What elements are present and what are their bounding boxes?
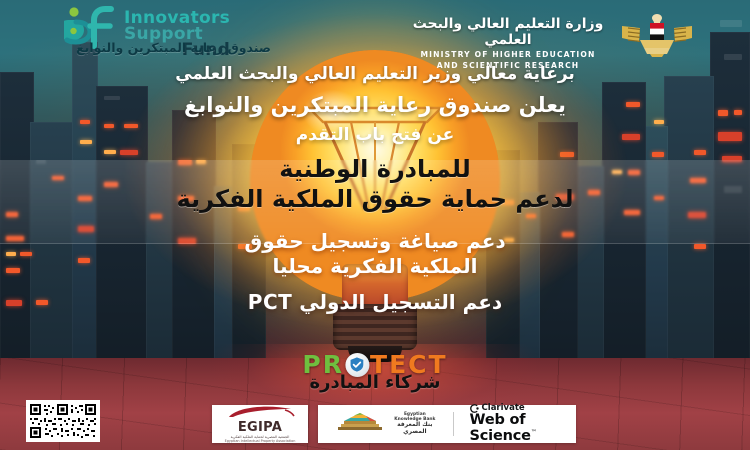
logo-divider — [453, 412, 454, 436]
egypt-eagle-emblem-icon — [620, 10, 694, 58]
ekb-logo: Egyptian Knowledge Bank بنك المعرفة المص… — [318, 412, 437, 436]
benefit-line-2: الملكية الفكرية محليا — [0, 254, 750, 278]
egipa-swoosh-icon — [223, 406, 297, 418]
ministry-arabic: وزارة التعليم العالي والبحث العلمي — [388, 16, 628, 48]
isf-arabic-name: صندوق رعاية المبتكرين والنوابغ — [66, 40, 281, 55]
opening-line: عن فتح باب التقدم — [0, 125, 750, 145]
wos-trademark: ™ — [531, 429, 537, 436]
patronage-line: برعاية معالي وزير التعليم العالي والبحث … — [0, 64, 750, 84]
web-of-science-logo: Clarivate Web of Science™ — [470, 404, 576, 443]
benefit-line-1: دعم صياغة وتسجيل حقوق — [0, 229, 750, 253]
ministry-english-line-1: MINISTRY OF HIGHER EDUCATION — [388, 50, 628, 59]
announcement-line: يعلن صندوق رعاية المبتكرين والنوابغ — [0, 93, 750, 117]
poster-header: Innovators Support Fund صندوق رعاية المب… — [0, 0, 750, 62]
benefit-line-3: دعم التسجيل الدولي PCT — [0, 290, 750, 314]
qr-code-icon — [28, 402, 98, 440]
poster-root: Innovators Support Fund صندوق رعاية المب… — [0, 0, 750, 450]
egipa-subtitle-english: Egyptian Intellectual Property Associati… — [223, 440, 297, 443]
ekb-text: Egyptian Knowledge Bank بنك المعرفة المص… — [393, 412, 437, 436]
ekb-wos-logo-card[interactable]: Egyptian Knowledge Bank بنك المعرفة المص… — [318, 405, 576, 443]
initiative-line-2: لدعم حماية حقوق الملكية الفكرية — [0, 185, 750, 213]
poster-copy: برعاية معالي وزير التعليم العالي والبحث … — [0, 62, 750, 314]
partners-heading: شركاء المبادرة — [0, 372, 750, 393]
initiative-line-1: للمبادرة الوطنية — [0, 155, 750, 183]
egipa-logo-card[interactable]: EGIPA الجمعية المصرية لحماية الملكية الف… — [212, 405, 308, 443]
qr-code[interactable] — [26, 400, 100, 442]
egipa-logo: EGIPA الجمعية المصرية لحماية الملكية الف… — [223, 405, 297, 443]
ekb-arabic: بنك المعرفة المصري — [393, 422, 437, 436]
wos-label: Web of Science — [470, 412, 531, 443]
egyptian-knowledge-bank-icon — [332, 412, 388, 432]
egipa-name: EGIPA — [223, 421, 297, 434]
web-of-science-name: Web of Science™ — [470, 413, 576, 443]
